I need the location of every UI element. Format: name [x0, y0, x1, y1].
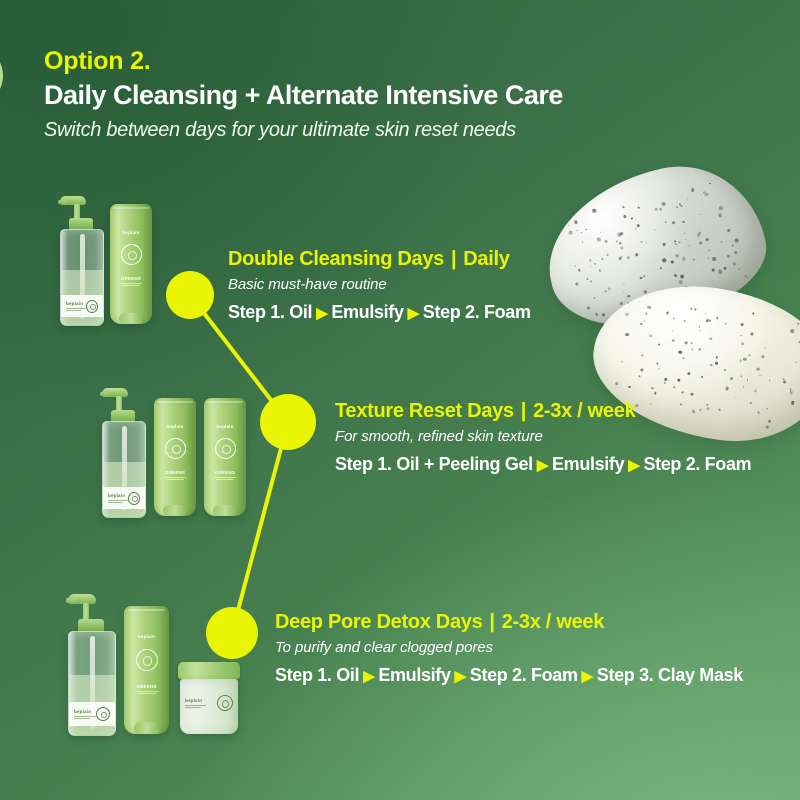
- tube-cap: [163, 505, 187, 516]
- brand-name: beplain: [122, 230, 139, 236]
- tube-caption: GREENS: [110, 276, 152, 286]
- arrow-icon: ▶: [533, 456, 552, 474]
- product-line: GREENS: [121, 276, 141, 282]
- section-title: Double Cleansing Days: [228, 248, 444, 270]
- tube-brand: beplain: [124, 634, 169, 640]
- arrow-icon: ▶: [578, 667, 597, 685]
- section-title: Texture Reset Days: [335, 400, 514, 422]
- step-item: Step 1. Oil: [275, 665, 359, 685]
- bottle-body: beplain: [60, 229, 104, 326]
- section-frequency: Daily: [463, 248, 509, 270]
- product-group-2: beplain beplain GREENS beplain: [100, 388, 246, 516]
- brand-ring-icon: [217, 695, 233, 711]
- node-dot-1[interactable]: [166, 271, 214, 319]
- product-peeling-gel-tube[interactable]: beplain GREENS: [154, 398, 196, 516]
- tube-cap: [119, 313, 143, 324]
- brand-name: beplain: [216, 424, 233, 430]
- product-line: GREENS: [136, 684, 156, 690]
- product-cleansing-oil-bottle[interactable]: beplain: [100, 388, 146, 516]
- brand-ring-icon: [96, 707, 110, 721]
- section-heading: Double Cleansing Days|Daily: [228, 248, 531, 271]
- section-separator: |: [514, 400, 533, 423]
- section-steps: Step 1. Oil▶Emulsify▶Step 2. Foam▶Step 3…: [275, 665, 743, 686]
- step-item: Emulsify: [378, 665, 450, 685]
- tube-cap: [134, 722, 160, 734]
- pump-nozzle: [58, 200, 67, 204]
- section-separator: |: [444, 248, 463, 271]
- brand-ring-icon: [128, 492, 140, 505]
- bottle-body: beplain: [68, 631, 116, 736]
- product-label: beplain: [61, 295, 103, 317]
- product-cleansing-oil-bottle[interactable]: beplain: [58, 196, 104, 324]
- tube-caption: GREENS: [204, 470, 246, 480]
- tube-brand: beplain: [154, 424, 196, 430]
- step-item: Step 2. Foam: [423, 302, 531, 322]
- product-label: beplain: [103, 487, 145, 509]
- jar-lid: [178, 662, 240, 679]
- step-item: Step 2. Foam: [643, 454, 751, 474]
- brand-name: beplain: [185, 698, 206, 704]
- jar-base: beplain: [180, 679, 238, 734]
- step-item: Emulsify: [552, 454, 624, 474]
- brand-ring-icon: [136, 649, 158, 671]
- product-line: GREENS: [165, 470, 185, 476]
- arrow-icon: ▶: [404, 304, 423, 322]
- page-title: Daily Cleansing + Alternate Intensive Ca…: [44, 80, 563, 111]
- brand-ring-icon: [215, 438, 236, 459]
- section-description: Basic must-have routine: [228, 276, 531, 293]
- tube-brand: beplain: [110, 230, 152, 236]
- option-label: Option 2.: [44, 48, 563, 76]
- arrow-icon: ▶: [624, 456, 643, 474]
- node-dot-2[interactable]: [260, 394, 316, 450]
- step-item: Emulsify: [331, 302, 403, 322]
- section-steps: Step 1. Oil + Peeling Gel▶Emulsify▶Step …: [335, 454, 751, 475]
- arrow-icon: ▶: [312, 304, 331, 322]
- section-texture-reset: Texture Reset Days|2-3x / week For smoot…: [335, 400, 751, 475]
- product-clay-mask-jar[interactable]: beplain: [178, 662, 240, 734]
- product-foam-cleanser-tube[interactable]: beplain GREENS: [204, 398, 246, 516]
- step-item: Step 3. Clay Mask: [597, 665, 743, 685]
- brand-name: beplain: [74, 709, 96, 715]
- step-item: Step 2. Foam: [470, 665, 578, 685]
- tube-seam: [113, 207, 148, 209]
- bottle-body: beplain: [102, 421, 146, 518]
- arrow-icon: ▶: [359, 667, 378, 685]
- section-frequency: 2-3x / week: [502, 611, 604, 633]
- product-cleansing-oil-bottle[interactable]: beplain: [66, 594, 116, 734]
- tube-caption: GREENS: [124, 684, 169, 694]
- section-heading: Deep Pore Detox Days|2-3x / week: [275, 611, 743, 634]
- pump-nozzle: [100, 392, 109, 396]
- tube-seam: [207, 401, 242, 403]
- product-group-1: beplain beplain GREENS: [58, 196, 152, 324]
- arrow-icon: ▶: [451, 667, 470, 685]
- product-label: beplain: [180, 695, 238, 711]
- step-item: Step 1. Oil + Peeling Gel: [335, 454, 533, 474]
- product-group-3: beplain beplain GREENS: [66, 594, 240, 734]
- tube-cap: [213, 505, 237, 516]
- infographic-canvas: Option 2. Daily Cleansing + Alternate In…: [0, 0, 800, 800]
- brand-ring-icon: [165, 438, 186, 459]
- tube-seam: [128, 609, 166, 611]
- brand-name: beplain: [166, 424, 183, 430]
- header-block: Option 2. Daily Cleansing + Alternate In…: [44, 48, 563, 142]
- product-line: GREENS: [215, 470, 235, 476]
- step-item: Step 1. Oil: [228, 302, 312, 322]
- section-steps: Step 1. Oil▶Emulsify▶Step 2. Foam: [228, 302, 531, 323]
- product-foam-cleanser-tube[interactable]: beplain GREENS: [124, 606, 169, 734]
- brand-name: beplain: [138, 634, 155, 640]
- brand-ring-icon: [121, 244, 142, 265]
- section-deep-pore-detox: Deep Pore Detox Days|2-3x / week To puri…: [275, 611, 743, 686]
- section-frequency: 2-3x / week: [533, 400, 635, 422]
- section-heading: Texture Reset Days|2-3x / week: [335, 400, 751, 423]
- section-double-cleansing: Double Cleansing Days|Daily Basic must-h…: [228, 248, 531, 323]
- section-description: To purify and clear clogged pores: [275, 639, 743, 656]
- product-label: beplain: [69, 702, 115, 726]
- product-foam-cleanser-tube[interactable]: beplain GREENS: [110, 204, 152, 324]
- section-title: Deep Pore Detox Days: [275, 611, 482, 633]
- section-description: For smooth, refined skin texture: [335, 428, 751, 445]
- brand-name: beplain: [66, 301, 86, 307]
- pump-nozzle: [66, 598, 76, 603]
- brand-ring-icon: [86, 300, 98, 313]
- brand-name: beplain: [108, 493, 128, 499]
- section-separator: |: [482, 611, 501, 634]
- tube-brand: beplain: [204, 424, 246, 430]
- tube-seam: [157, 401, 192, 403]
- tube-caption: GREENS: [154, 470, 196, 480]
- page-subtitle: Switch between days for your ultimate sk…: [44, 119, 563, 142]
